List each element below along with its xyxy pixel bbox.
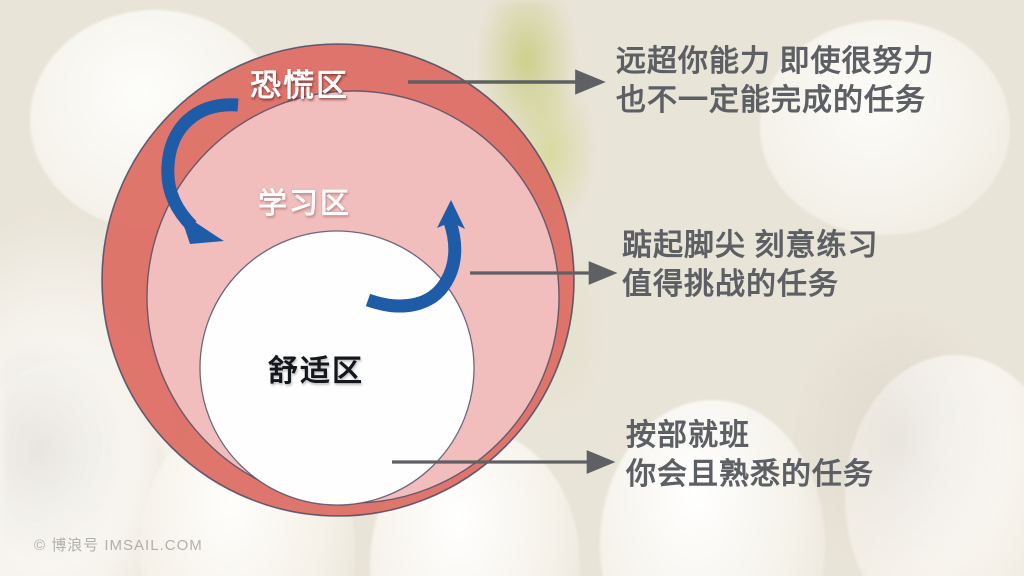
callout-panic-zone: 远超你能力 即使很努力 也不一定能完成的任务 xyxy=(616,42,935,120)
callout-comfort-line-1: 按部就班 xyxy=(626,416,874,455)
callout-panic-line-1: 远超你能力 即使很努力 xyxy=(616,42,935,81)
callout-panic-line-2: 也不一定能完成的任务 xyxy=(616,81,935,120)
callout-comfort-zone: 按部就班 你会且熟悉的任务 xyxy=(626,416,874,494)
ring-label-learning-zone: 学习区 xyxy=(258,180,351,222)
callout-learning-zone: 踮起脚尖 刻意练习 值得挑战的任务 xyxy=(622,226,879,304)
ring-label-panic-zone: 恐慌区 xyxy=(250,60,349,105)
ring-label-comfort-zone: 舒适区 xyxy=(268,346,364,390)
watermark: © 博浪号 IMSAIL.COM xyxy=(34,534,203,555)
slide-canvas: 恐慌区 学习区 舒适区 远超你能力 即使很努力 也不一定能完成的任务 踮起脚尖 … xyxy=(0,0,1024,576)
callout-learning-line-2: 值得挑战的任务 xyxy=(622,265,879,304)
callout-comfort-line-2: 你会且熟悉的任务 xyxy=(626,455,874,494)
callout-learning-line-1: 踮起脚尖 刻意练习 xyxy=(622,226,879,265)
